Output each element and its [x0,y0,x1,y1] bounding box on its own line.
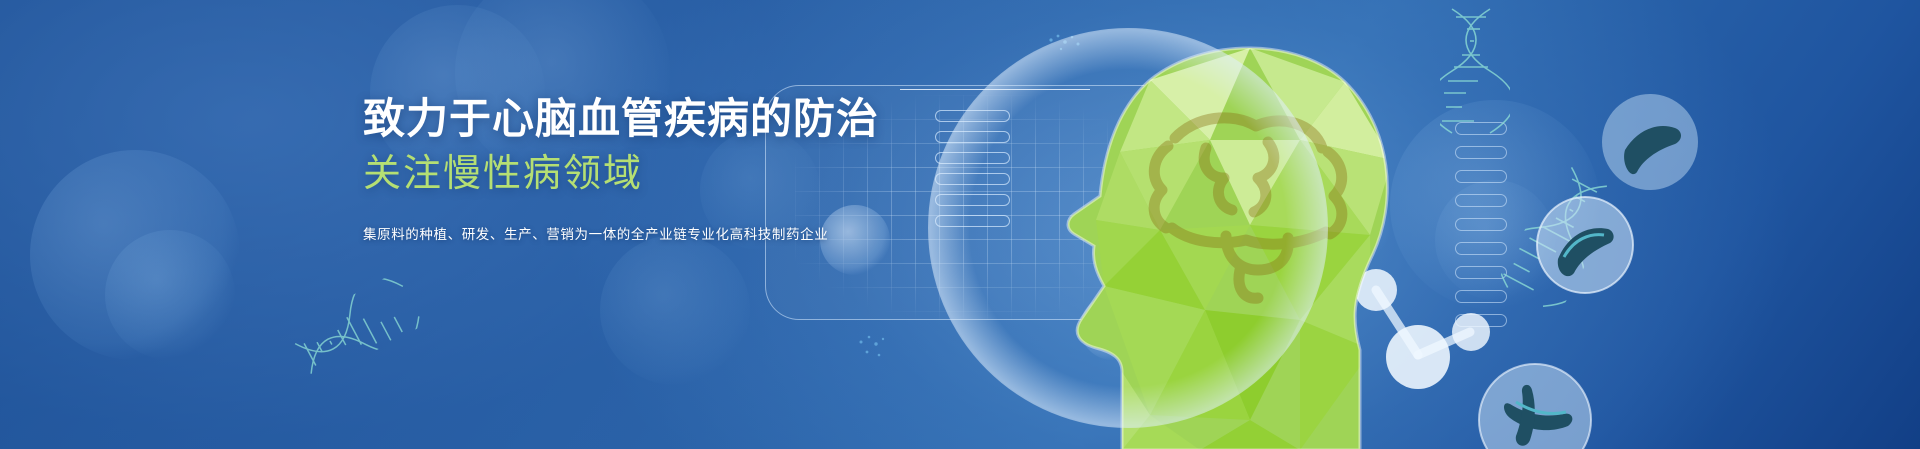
panel-bar [1455,314,1507,327]
page-title: 致力于心脑血管疾病的防治 [363,95,1003,142]
panel-bar [1455,218,1507,231]
headline-part-main: 致力于 [363,95,492,142]
panel-bar [1455,170,1507,183]
hero-banner: 致力于心脑血管疾病的防治 关注慢性病领域 集原料的种植、研发、生产、营销为一体的… [0,0,1920,449]
panel-bar [1455,290,1507,303]
page-subtitle: 关注慢性病领域 [363,150,1003,199]
bokeh-circle [105,230,235,360]
banner-copy-block: 致力于心脑血管疾病的防治 关注慢性病领域 集原料的种植、研发、生产、营销为一体的… [363,95,1003,243]
headline-part-tail: 的防治 [750,95,879,142]
panel-bar [1455,266,1507,279]
panel-bar [1455,194,1507,207]
dna-helix-icon [284,266,436,385]
cell-bacteria-icon [1595,90,1705,195]
cell-bacteria-icon [1530,195,1640,295]
panel-bar [1455,242,1507,255]
particle-cluster-icon [855,330,895,364]
page-tagline: 集原料的种植、研发、生产、营销为一体的全产业链专业化高科技制药企业 [363,223,1003,243]
bokeh-circle [30,150,240,360]
panel-bar [1455,122,1507,135]
bokeh-circle [600,235,750,385]
cell-bacteria-icon [1470,360,1600,449]
polygonal-head-illustration [1000,20,1430,449]
panel-bar [1455,146,1507,159]
panel-bar-stack-right [1455,122,1507,338]
headline-part-highlight: 心脑血管疾病 [492,95,750,142]
